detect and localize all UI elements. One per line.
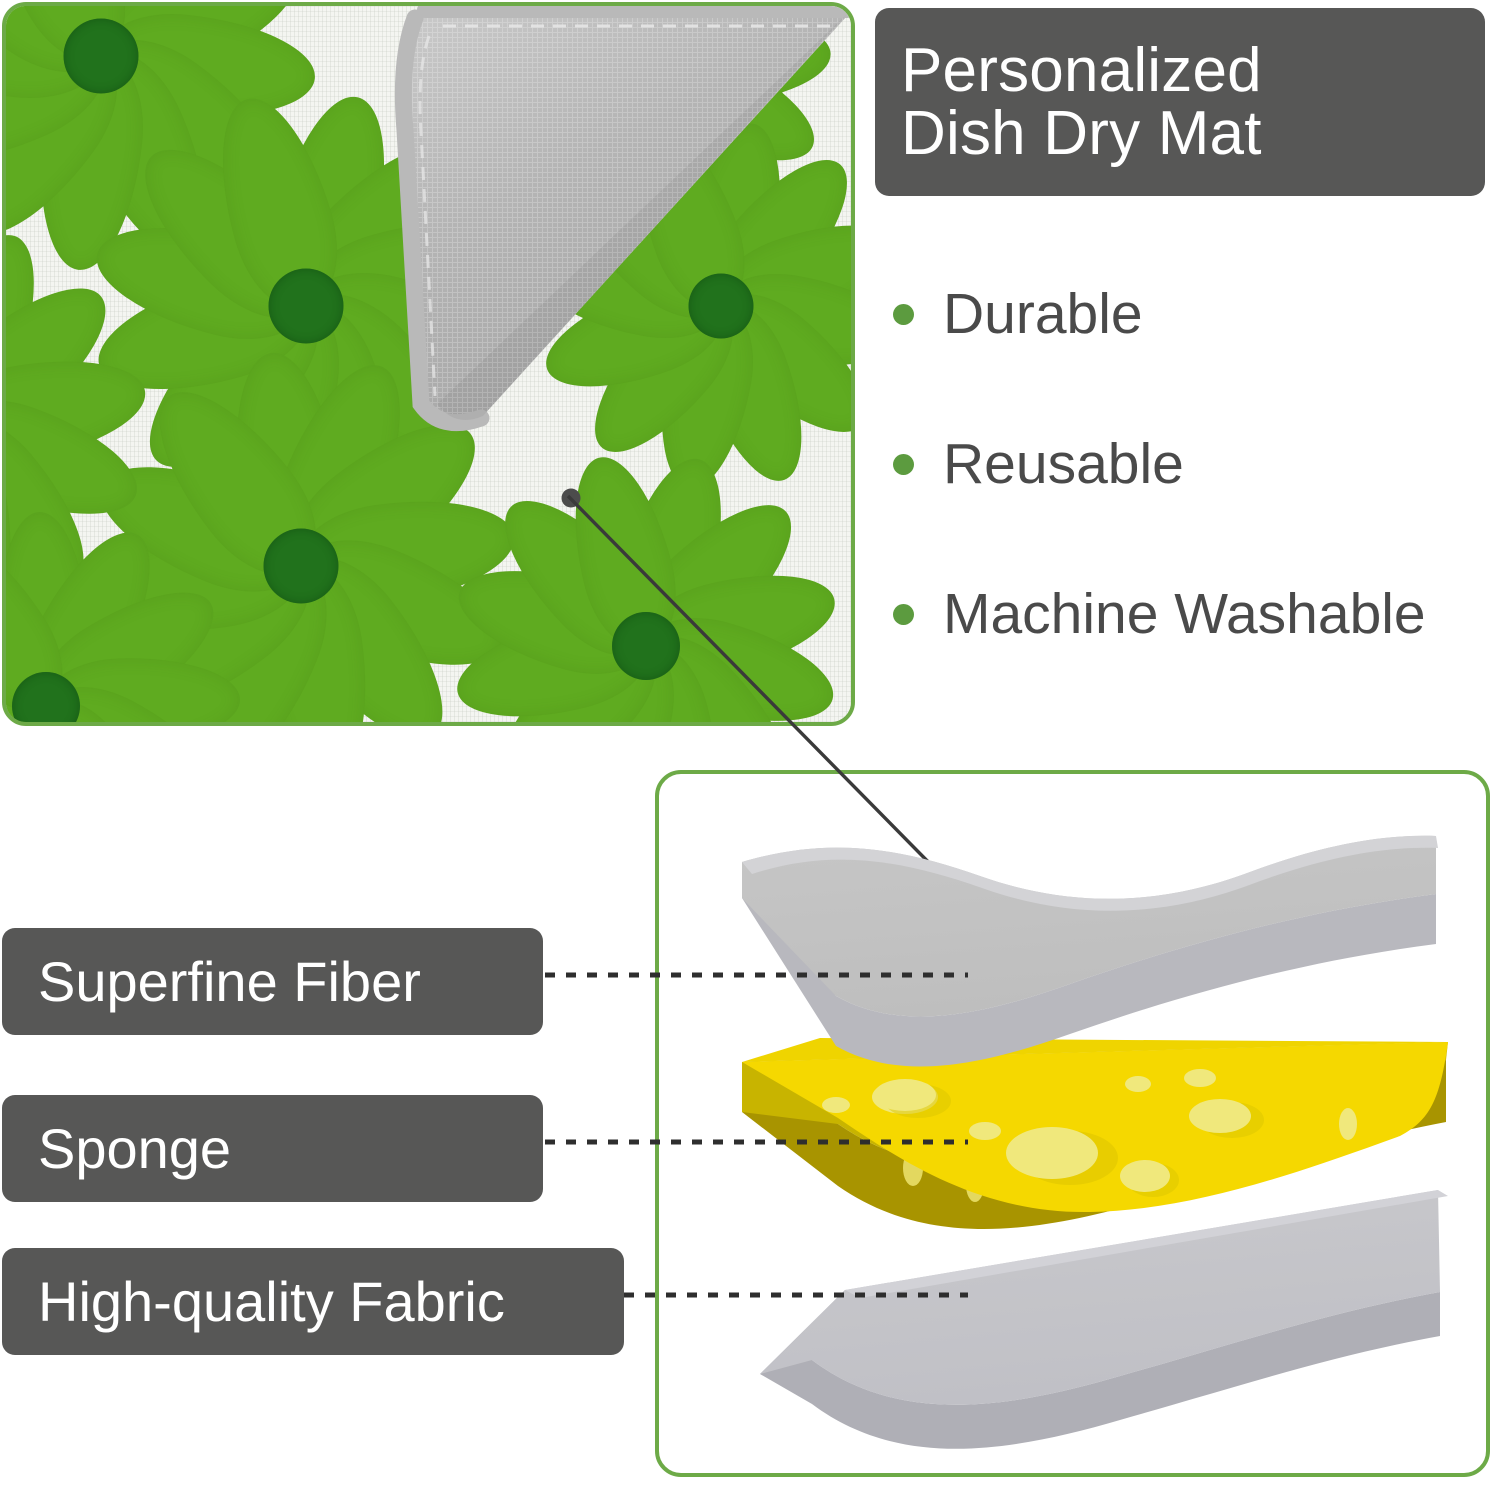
product-photo-panel	[2, 2, 855, 726]
feature-item-durable: Durable	[893, 276, 1493, 352]
daisy-center	[269, 269, 344, 344]
feature-label: Durable	[943, 286, 1143, 343]
layer-label-text: Sponge	[38, 1121, 231, 1177]
green-dot-icon	[893, 454, 914, 475]
feature-item-machine-washable: Machine Washable	[893, 576, 1493, 652]
layer-diagram-panel	[655, 770, 1490, 1477]
daisy-center	[612, 612, 680, 680]
daisy-center	[64, 19, 139, 94]
layer-label-text: High-quality Fabric	[38, 1274, 505, 1330]
folded-corner-backing	[385, 6, 851, 440]
layer-label-sponge: Sponge	[2, 1095, 543, 1202]
feature-label: Reusable	[943, 436, 1184, 493]
title-line-1: Personalized	[901, 39, 1485, 102]
feature-list: Durable Reusable Machine Washable	[893, 276, 1493, 726]
feature-label: Machine Washable	[943, 586, 1426, 643]
product-title-banner: Personalized Dish Dry Mat	[875, 8, 1485, 196]
backing-callout-dot	[562, 489, 581, 508]
product-photo-image	[6, 6, 851, 722]
daisy-center	[264, 529, 339, 604]
layer-label-text: Superfine Fiber	[38, 954, 421, 1010]
green-dot-icon	[893, 304, 914, 325]
layer-label-high-quality-fabric: High-quality Fabric	[2, 1248, 624, 1355]
feature-item-reusable: Reusable	[893, 426, 1493, 502]
layer-label-superfine-fiber: Superfine Fiber	[2, 928, 543, 1035]
title-line-2: Dish Dry Mat	[901, 102, 1485, 165]
infographic-canvas: Personalized Dish Dry Mat Durable Reusab…	[0, 0, 1500, 1487]
green-dot-icon	[893, 604, 914, 625]
